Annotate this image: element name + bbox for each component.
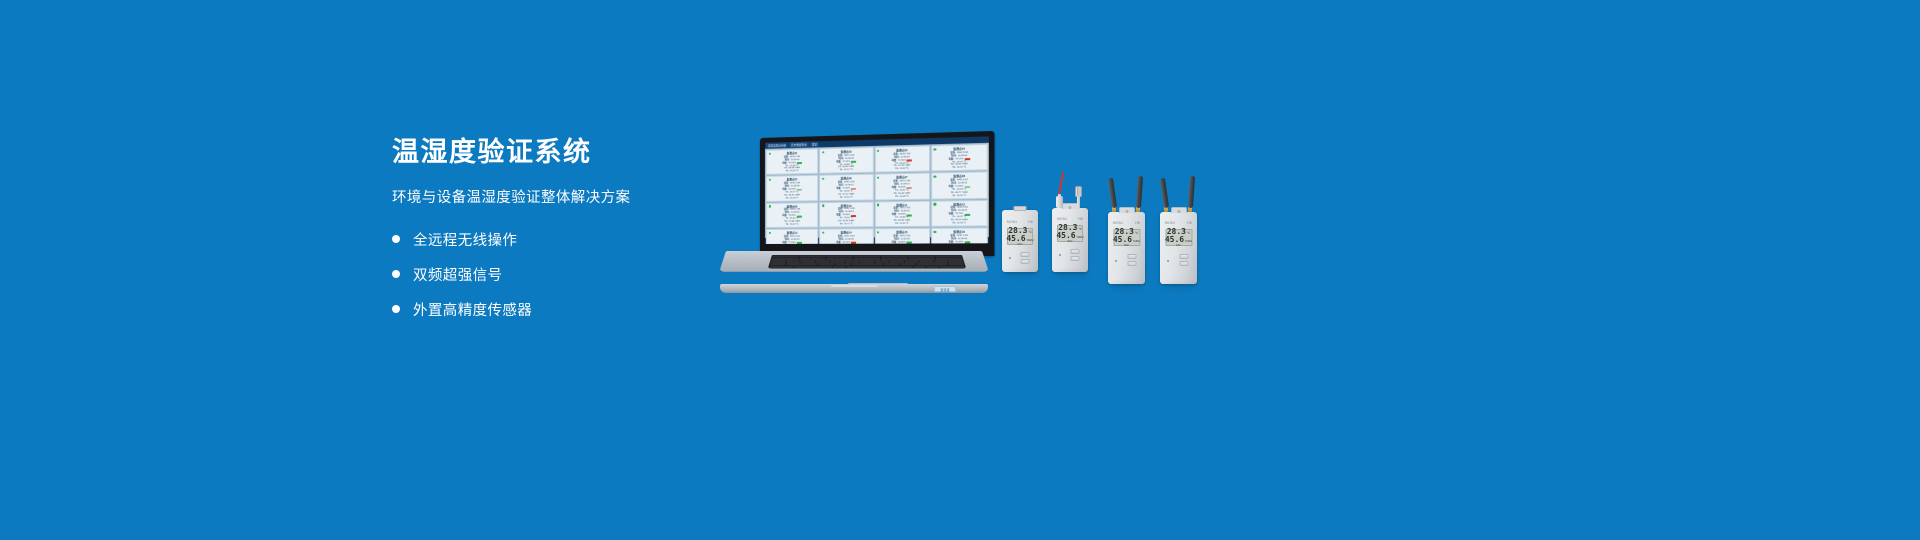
lcd-humidity-row: 45.6 %RH bbox=[1116, 236, 1137, 244]
monitor-card[interactable]: 监测点06设备:W06-T105时间:10:28:10电量:72.40%T1:2… bbox=[819, 174, 873, 201]
card-title: 监测点06 bbox=[841, 177, 852, 181]
device-led-icon bbox=[1059, 254, 1061, 256]
monitor-card[interactable]: 监测点13设备:W13-T112时间:10:28:24电量:77.80%T1:2… bbox=[766, 229, 818, 244]
device-shadow bbox=[1162, 284, 1196, 289]
device-button-down[interactable] bbox=[1021, 259, 1030, 264]
device-button-pad[interactable] bbox=[1127, 254, 1136, 266]
card-field-key: T3: bbox=[786, 171, 789, 174]
probe-stem bbox=[1077, 196, 1080, 209]
card-field-value: 25.47 ℃ bbox=[957, 167, 966, 170]
keyboard-key[interactable] bbox=[913, 266, 926, 268]
laptop-product-image: 温湿度验证系统 历史数据查询 帮助 监测点01设备:W01-T100时间:10:… bbox=[718, 138, 990, 298]
monitor-card[interactable]: 监测点01设备:W01-T100时间:10:28:00电量:75.00%T1:2… bbox=[766, 148, 818, 175]
device-led-icon bbox=[1115, 260, 1117, 262]
device-brand: MONI bbox=[1007, 220, 1017, 224]
antenna-left bbox=[1160, 178, 1169, 208]
card-status-led-icon bbox=[768, 232, 770, 234]
monitor-card[interactable]: 监测点02设备:W02-T101时间:10:28:02电量:77.20%T1:2… bbox=[819, 147, 873, 174]
antenna-left bbox=[1108, 178, 1117, 208]
device-lcd-display: 28.3 ℃ 45.6 %RH REC bbox=[1057, 225, 1083, 242]
device-button-pad[interactable] bbox=[1021, 252, 1030, 264]
page-title: 温湿度验证系统 bbox=[392, 138, 722, 168]
monitor-card[interactable]: 监测点04设备:W04-T103时间:10:28:06电量:73.10%T1:2… bbox=[931, 144, 988, 172]
device-wall-mount-logger: MONI H8 28.3 ℃ 45.6 %RH REC bbox=[1002, 210, 1038, 272]
device-shadow bbox=[1054, 272, 1088, 277]
card-field-value: 25.19 ℃ bbox=[790, 197, 799, 200]
hero-copy-block: 温湿度验证系统 环境与设备温湿度验证整体解决方案 全远程无线操作 双频超强信号 … bbox=[392, 138, 722, 334]
probe-body-left bbox=[1056, 196, 1063, 208]
device-model: H8 bbox=[1187, 221, 1192, 225]
card-field-value: 25.52 ℃ bbox=[957, 195, 966, 198]
card-title: 监测点16 bbox=[953, 230, 965, 234]
device-button-up[interactable] bbox=[1071, 249, 1080, 254]
keyboard-key[interactable] bbox=[820, 266, 832, 268]
device-lcd-display: 28.3 ℃ 45.6 %RH REC bbox=[1165, 229, 1192, 246]
page-subtitle: 环境与设备温湿度验证整体解决方案 bbox=[392, 186, 722, 207]
device-brand-row: MONI H8 bbox=[1052, 217, 1088, 221]
lcd-temperature-unit: ℃ bbox=[1187, 232, 1190, 235]
keyboard-key[interactable] bbox=[833, 266, 845, 268]
card-field-row: T3:25.47 ℃ bbox=[952, 167, 966, 170]
feature-label: 全远程无线操作 bbox=[413, 229, 517, 250]
monitor-card[interactable]: 监测点10设备:W10-T109时间:10:28:18电量:70.80%T1:2… bbox=[819, 201, 873, 228]
device-model: H8 bbox=[1135, 221, 1140, 225]
lcd-status-label: REC bbox=[1168, 244, 1189, 247]
keyboard-key[interactable] bbox=[769, 266, 794, 268]
monitor-card[interactable]: 监测点12设备:W12-T111时间:10:28:22电量:73.70%T1:2… bbox=[931, 200, 988, 227]
card-field-row: T3:25.43 ℃ bbox=[952, 223, 966, 226]
antenna-right bbox=[1188, 176, 1195, 208]
card-title: 监测点02 bbox=[841, 150, 852, 154]
keyboard-key[interactable] bbox=[926, 266, 939, 268]
bullet-dot-icon bbox=[392, 235, 400, 243]
feature-label: 双频超强信号 bbox=[413, 264, 502, 285]
laptop-screen: 温湿度验证系统 历史数据查询 帮助 监测点01设备:W01-T100时间:10:… bbox=[765, 136, 989, 244]
card-field-key: T3: bbox=[786, 197, 789, 200]
card-field-row: T3:25.06 ℃ bbox=[786, 171, 799, 174]
card-field-key: T3: bbox=[952, 223, 956, 226]
monitor-card[interactable]: 监测点15设备:W15-T114时间:10:28:28电量:76.60%T1:2… bbox=[874, 228, 929, 244]
feature-label: 外置高精度传感器 bbox=[413, 299, 532, 320]
card-status-led-icon bbox=[934, 175, 937, 178]
monitor-card-grid: 监测点01设备:W01-T100时间:10:28:00电量:75.00%T1:2… bbox=[765, 143, 989, 238]
device-brand-row: MONI H8 bbox=[1002, 220, 1038, 224]
probe-wire bbox=[1058, 172, 1064, 196]
device-brand: MONI bbox=[1057, 217, 1067, 221]
card-title: 监测点13 bbox=[787, 231, 798, 235]
feature-item-3: 外置高精度传感器 bbox=[392, 299, 722, 320]
card-status-led-icon bbox=[934, 231, 937, 234]
card-field-key: T3: bbox=[895, 168, 898, 171]
device-button-pad[interactable] bbox=[1179, 254, 1188, 266]
toolbar-item-system[interactable]: 温湿度验证系统 bbox=[766, 143, 788, 149]
device-shadow bbox=[1110, 284, 1144, 289]
card-field-row: T3:25.19 ℃ bbox=[786, 197, 799, 200]
device-button-down[interactable] bbox=[1127, 261, 1136, 266]
device-model: H8 bbox=[1028, 220, 1033, 224]
device-brand: MONI bbox=[1165, 221, 1175, 225]
monitor-card[interactable]: 监测点09设备:W09-T108时间:10:28:16电量:79.30%T1:2… bbox=[766, 202, 818, 228]
lcd-status-label: REC bbox=[1116, 244, 1137, 247]
card-field-key: T3: bbox=[840, 170, 843, 173]
card-status-led-icon bbox=[877, 231, 880, 233]
card-status-led-icon bbox=[768, 205, 770, 207]
card-status-led-icon bbox=[822, 151, 824, 153]
monitor-card[interactable]: 监测点05设备:W05-T104时间:10:28:08电量:76.00%T1:2… bbox=[766, 175, 818, 202]
feature-item-2: 双频超强信号 bbox=[392, 264, 722, 285]
device-led-icon bbox=[1167, 260, 1169, 262]
card-field-row: T3:25.12 ℃ bbox=[840, 169, 853, 172]
feature-list: 全远程无线操作 双频超强信号 外置高精度传感器 bbox=[392, 229, 722, 320]
device-brand-row: MONI H8 bbox=[1160, 221, 1197, 225]
device-dual-antenna-logger-2: MONI H8 28.3 ℃ 45.6 %RH REC bbox=[1160, 212, 1197, 284]
card-status-led-icon bbox=[822, 204, 824, 206]
lcd-humidity-value: 45.6 bbox=[1165, 236, 1184, 244]
lcd-humidity-row: 45.6 %RH bbox=[1010, 235, 1030, 243]
device-brand: MONI bbox=[1113, 221, 1123, 225]
lcd-temperature-unit: ℃ bbox=[1078, 228, 1081, 231]
card-field-value: 25.14 ℃ bbox=[900, 223, 909, 226]
feature-item-1: 全远程无线操作 bbox=[392, 229, 722, 250]
hanger-loop-icon bbox=[1171, 207, 1187, 213]
card-title: 监测点14 bbox=[841, 231, 852, 235]
card-field-value: 25.33 ℃ bbox=[900, 168, 909, 171]
bullet-dot-icon bbox=[392, 270, 400, 278]
card-field-key: T3: bbox=[952, 167, 956, 170]
sensor-device-group: MONI H8 28.3 ℃ 45.6 %RH REC bbox=[1000, 180, 1220, 310]
antenna-right bbox=[1136, 176, 1143, 208]
lcd-humidity-unit: %RH bbox=[1185, 240, 1192, 243]
card-field-value: 25.06 ℃ bbox=[790, 171, 799, 174]
card-title: 监测点03 bbox=[896, 148, 907, 152]
device-lcd-display: 28.3 ℃ 45.6 %RH REC bbox=[1007, 228, 1033, 245]
monitor-card[interactable]: 监测点08设备:W08-T107时间:10:28:14电量:71.60%T1:2… bbox=[931, 172, 988, 200]
lcd-humidity-row: 45.6 %RH bbox=[1060, 232, 1080, 240]
device-button-down[interactable] bbox=[1071, 256, 1080, 261]
card-field-row: T3:25.08 ℃ bbox=[895, 196, 909, 199]
lcd-humidity-value: 45.6 bbox=[1056, 232, 1075, 240]
card-status-led-icon bbox=[822, 231, 824, 233]
card-status-led-icon bbox=[768, 179, 770, 181]
card-field-value: 25.25 ℃ bbox=[790, 224, 799, 227]
device-button-pad[interactable] bbox=[1071, 249, 1080, 261]
toolbar-item-help[interactable]: 帮助 bbox=[810, 142, 819, 148]
lcd-humidity-value: 45.6 bbox=[1006, 235, 1025, 243]
device-probe-logger: MONI H8 28.3 ℃ 45.6 %RH REC bbox=[1052, 208, 1088, 272]
lcd-humidity-unit: %RH bbox=[1133, 240, 1140, 243]
card-field-key: T3: bbox=[840, 197, 843, 200]
card-title: 监测点04 bbox=[953, 147, 965, 152]
hanger-loop-icon bbox=[1062, 203, 1078, 209]
card-field-key: 电量: bbox=[949, 241, 955, 244]
card-field-row: T3:25.71 ℃ bbox=[840, 223, 853, 226]
monitor-card[interactable]: 监测点03设备:W03-T102时间:10:28:04电量:74.30%T1:2… bbox=[874, 145, 929, 173]
device-led-icon bbox=[1009, 257, 1011, 259]
card-field-key: T3: bbox=[952, 195, 956, 198]
card-field-key: T3: bbox=[840, 224, 843, 227]
laptop-lid: 温湿度验证系统 历史数据查询 帮助 监测点01设备:W01-T100时间:10:… bbox=[760, 131, 994, 256]
card-field-value: 25.43 ℃ bbox=[957, 223, 966, 226]
monitor-card[interactable]: 监测点16设备:W16-T115时间:10:28:30电量:75.40%T1:2… bbox=[931, 228, 988, 244]
keyboard-key[interactable] bbox=[846, 266, 913, 268]
card-field-row: T3:25.52 ℃ bbox=[952, 195, 966, 198]
vent-grill-icon bbox=[1014, 206, 1027, 211]
lcd-humidity-unit: %RH bbox=[1077, 236, 1084, 239]
card-field-value: 75.40% bbox=[955, 241, 963, 244]
bullet-dot-icon bbox=[392, 305, 400, 313]
card-status-led-icon bbox=[934, 148, 937, 151]
device-model: H8 bbox=[1078, 217, 1083, 221]
device-brand-row: MONI H8 bbox=[1108, 221, 1145, 225]
lcd-humidity-unit: %RH bbox=[1027, 239, 1034, 242]
laptop-sticker: 温湿度 bbox=[934, 286, 956, 292]
card-field-key: T3: bbox=[786, 224, 789, 227]
keyboard-row bbox=[769, 266, 965, 268]
hanger-loop-icon bbox=[1119, 207, 1135, 213]
device-button-up[interactable] bbox=[1179, 254, 1188, 259]
card-field-row: T3:25.25 ℃ bbox=[786, 224, 799, 227]
lcd-status-label: REC bbox=[1060, 240, 1080, 243]
lcd-status-label: REC bbox=[1010, 243, 1030, 246]
card-field-row: T3:25.14 ℃ bbox=[895, 223, 909, 226]
card-status-led-icon bbox=[822, 178, 824, 180]
card-status-led-icon bbox=[877, 177, 880, 180]
laptop-open-notch bbox=[831, 285, 877, 287]
keyboard-key[interactable] bbox=[939, 266, 952, 268]
card-status-led-icon bbox=[877, 204, 880, 206]
device-dual-antenna-logger-1: MONI H8 28.3 ℃ 45.6 %RH REC bbox=[1108, 212, 1145, 284]
monitor-card[interactable]: 监测点07设备:W07-T106时间:10:28:12电量:78.50%T1:2… bbox=[874, 173, 929, 200]
device-button-up[interactable] bbox=[1127, 254, 1136, 259]
card-field-value: 25.08 ℃ bbox=[900, 196, 909, 199]
monitor-card[interactable]: 监测点11设备:W11-T110时间:10:28:20电量:74.90%T1:2… bbox=[874, 201, 929, 228]
lcd-temperature-unit: ℃ bbox=[1028, 231, 1031, 234]
card-title: 监测点15 bbox=[896, 230, 907, 234]
device-shadow bbox=[1004, 272, 1038, 277]
hero-banner: 温湿度验证系统 环境与设备温湿度验证整体解决方案 全远程无线操作 双频超强信号 … bbox=[0, 0, 1920, 540]
device-button-down[interactable] bbox=[1179, 261, 1188, 266]
card-field-key: T3: bbox=[895, 196, 898, 199]
keyboard-key[interactable] bbox=[794, 266, 819, 268]
card-field-value: 25.71 ℃ bbox=[844, 223, 853, 226]
card-field-value: 25.12 ℃ bbox=[844, 169, 853, 172]
card-field-value: 25.61 ℃ bbox=[844, 196, 853, 199]
card-title: 监测点08 bbox=[953, 174, 965, 178]
lcd-humidity-value: 45.6 bbox=[1113, 236, 1132, 244]
card-field-row: T3:25.33 ℃ bbox=[895, 168, 909, 171]
device-lcd-display: 28.3 ℃ 45.6 %RH REC bbox=[1113, 229, 1140, 246]
card-field-key: T3: bbox=[895, 223, 898, 226]
lcd-humidity-row: 45.6 %RH bbox=[1168, 236, 1189, 244]
card-title: 监测点07 bbox=[896, 175, 907, 179]
card-field-key: 电量: bbox=[782, 242, 787, 244]
laptop-keyboard[interactable] bbox=[768, 255, 966, 269]
card-field-row: T3:25.61 ℃ bbox=[840, 196, 853, 199]
toolbar-item-history[interactable]: 历史数据查询 bbox=[789, 142, 809, 148]
card-title: 监测点05 bbox=[787, 178, 798, 182]
card-status-led-icon bbox=[934, 203, 937, 206]
lcd-temperature-unit: ℃ bbox=[1135, 232, 1138, 235]
card-field-row: 电量:75.40% bbox=[949, 241, 970, 244]
card-status-led-icon bbox=[877, 149, 880, 152]
device-button-up[interactable] bbox=[1021, 252, 1030, 257]
monitor-card[interactable]: 监测点14设备:W14-T113时间:10:28:26电量:72.10%T1:2… bbox=[819, 228, 873, 244]
keyboard-key[interactable] bbox=[952, 266, 965, 268]
card-status-led-icon bbox=[768, 152, 770, 154]
